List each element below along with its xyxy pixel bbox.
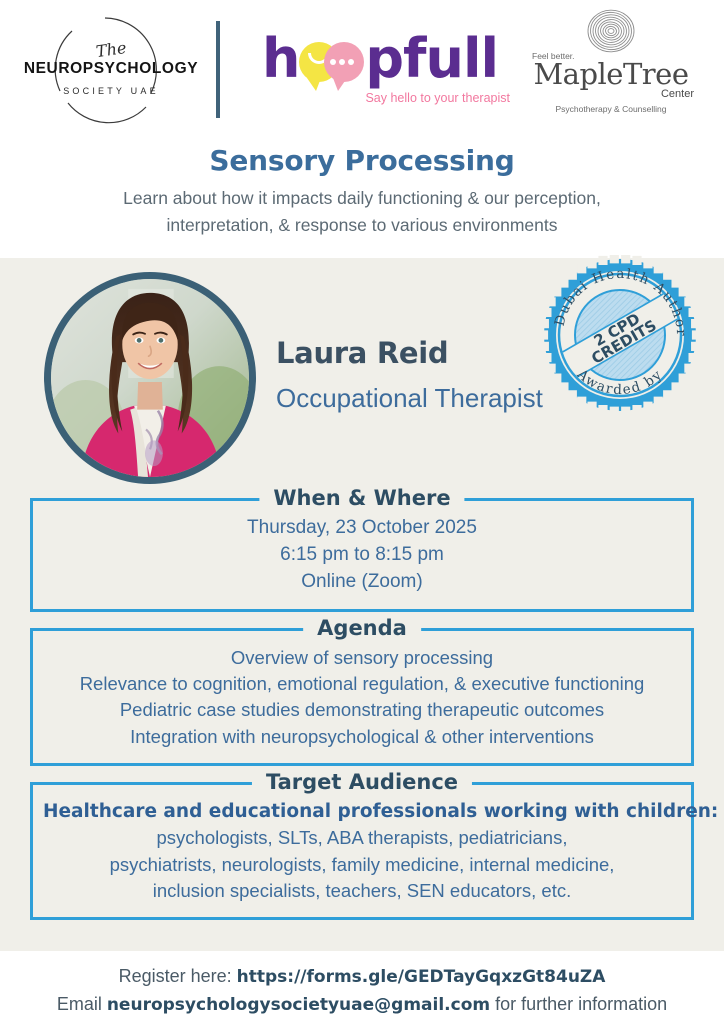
- speaker-photo: [51, 279, 249, 477]
- email-prefix: Email: [57, 994, 107, 1014]
- register-url[interactable]: https://forms.gle/GEDTayGqxzGt84uZA: [237, 967, 606, 987]
- mapletree-logo: Feel better. MapleTree Center Psychother…: [516, 9, 706, 129]
- neuropsychology-society-logo: The NEUROPSYCHOLOGY SOCIETY UAE: [18, 9, 204, 129]
- section-line: 6:15 pm to 8:15 pm: [43, 542, 681, 569]
- logo-script-word: The: [95, 40, 127, 60]
- section-box: AgendaOverview of sensory processingRele…: [30, 628, 694, 766]
- body-section: Laura Reid Occupational Therapist: [0, 258, 724, 951]
- hoopfull-word-start: h: [262, 33, 299, 85]
- logo-divider: [216, 21, 220, 118]
- hoopfull-word-end: pfull: [365, 33, 498, 85]
- footer: Register here: https://forms.gle/GEDTayG…: [0, 951, 724, 1024]
- sections-container: When & WhereThursday, 23 October 20256:1…: [0, 498, 724, 920]
- page-title: Sensory Processing: [40, 146, 684, 177]
- contact-email[interactable]: neuropsychologysocietyuae@gmail.com: [107, 995, 490, 1015]
- hoopfull-tagline: Say hello to your therapist: [365, 91, 510, 105]
- section-line: inclusion specialists, teachers, SEN edu…: [43, 878, 681, 904]
- speaker-role: Occupational Therapist: [276, 383, 543, 414]
- email-line: Email neuropsychologysocietyuae@gmail.co…: [0, 991, 724, 1019]
- section-line: psychiatrists, neurologists, family medi…: [43, 852, 681, 878]
- header-logo-bar: The NEUROPSYCHOLOGY SOCIETY UAE h pfull …: [0, 0, 724, 258]
- register-line: Register here: https://forms.gle/GEDTayG…: [0, 963, 724, 991]
- section-line: Relevance to cognition, emotional regula…: [43, 671, 681, 697]
- section-line: Thursday, 23 October 2025: [43, 515, 681, 542]
- email-suffix: for further information: [490, 994, 667, 1014]
- cpd-badge-icon: 2 CPD CREDITS the Dubai Health Authority…: [540, 255, 700, 415]
- section-line: Pediatric case studies demonstrating the…: [43, 697, 681, 723]
- register-label: Register here:: [119, 966, 237, 986]
- title-block: Sensory Processing Learn about how it im…: [0, 138, 724, 239]
- tree-rings-icon: [585, 9, 637, 53]
- section-legend: Target Audience: [252, 769, 472, 795]
- speaker-name: Laura Reid: [276, 336, 448, 370]
- section-line: Online (Zoom): [43, 569, 681, 596]
- section-box: When & WhereThursday, 23 October 20256:1…: [30, 498, 694, 612]
- speaker-row: Laura Reid Occupational Therapist: [0, 258, 724, 496]
- section-line: Overview of sensory processing: [43, 645, 681, 671]
- cpd-credits-badge: 2 CPD CREDITS the Dubai Health Authority…: [540, 255, 700, 415]
- logo-row: The NEUROPSYCHOLOGY SOCIETY UAE h pfull …: [0, 0, 724, 138]
- speaker-avatar: [44, 272, 256, 484]
- mapletree-name: MapleTree: [533, 60, 688, 89]
- logo-main-word: NEUROPSYCHOLOGY: [24, 61, 198, 77]
- speech-bubbles-icon: [299, 33, 365, 89]
- page-subtitle-line1: Learn about how it impacts daily functio…: [40, 185, 684, 212]
- section-box: Target AudienceHealthcare and educationa…: [30, 782, 694, 920]
- hoopfull-wordmark: h pfull: [262, 33, 498, 89]
- section-line: Healthcare and educational professionals…: [43, 799, 681, 825]
- logo-sub-word: SOCIETY UAE: [63, 86, 159, 96]
- typing-dots-icon: [330, 59, 354, 65]
- section-legend: When & Where: [259, 485, 464, 511]
- section-legend: Agenda: [303, 615, 421, 641]
- mapletree-tagline: Psychotherapy & Counselling: [555, 104, 666, 114]
- section-line: psychologists, SLTs, ABA therapists, ped…: [43, 825, 681, 851]
- mapletree-center-label: Center: [661, 88, 694, 100]
- section-line: Integration with neuropsychological & ot…: [43, 724, 681, 750]
- page-subtitle-line2: interpretation, & response to various en…: [40, 212, 684, 239]
- hoopfull-logo: h pfull Say hello to your therapist: [244, 9, 516, 129]
